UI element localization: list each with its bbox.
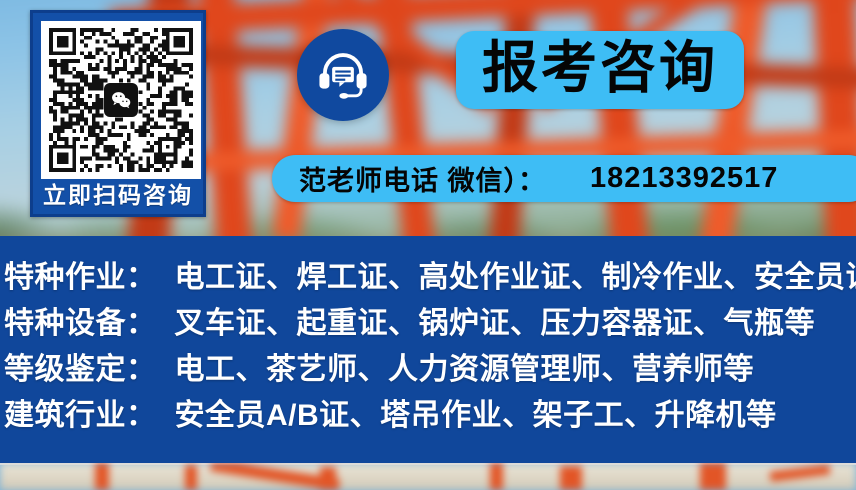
- ground-beam: [320, 467, 336, 490]
- list-item: 特种设备： 叉车证、起重证、锅炉证、压力容器证、气瓶等: [0, 298, 856, 344]
- category-label: 等级鉴定：: [4, 344, 157, 388]
- contact-phone-number[interactable]: 18213392517: [590, 162, 778, 195]
- promo-poster: 立即扫码咨询 报考咨询 范老师电话 微信）： 18213392517 特种作业：…: [0, 0, 856, 490]
- list-item: 特种作业： 电工证、焊工证、高处作业证、制冷作业、安全员证等: [0, 252, 856, 298]
- page-title: 报考咨询: [456, 31, 744, 109]
- category-items: 安全员A/B证、塔吊作业、架子工、升降机等: [175, 390, 777, 434]
- qr-code-panel[interactable]: 立即扫码咨询: [30, 10, 206, 217]
- contact-label: 范老师电话 微信）：: [299, 159, 546, 198]
- contact-pill[interactable]: 范老师电话 微信）： 18213392517: [272, 155, 856, 202]
- category-label: 特种作业：: [4, 252, 157, 296]
- category-label: 建筑行业：: [4, 390, 157, 434]
- qr-caption: 立即扫码咨询: [33, 180, 203, 210]
- category-items: 叉车证、起重证、锅炉证、压力容器证、气瓶等: [175, 298, 816, 342]
- headset-support-icon[interactable]: [297, 29, 389, 121]
- list-item: 建筑行业： 安全员A/B证、塔吊作业、架子工、升降机等: [0, 390, 856, 436]
- list-item: 等级鉴定： 电工、茶艺师、人力资源管理师、营养师等: [0, 344, 856, 390]
- ground-beam: [560, 466, 582, 490]
- category-items: 电工证、焊工证、高处作业证、制冷作业、安全员证等: [175, 252, 856, 296]
- wechat-icon: [104, 83, 138, 117]
- category-list: 特种作业： 电工证、焊工证、高处作业证、制冷作业、安全员证等 特种设备： 叉车证…: [0, 236, 856, 463]
- bottom-photo-strip: [0, 463, 856, 490]
- ground-beam: [185, 465, 197, 490]
- qr-code-surface: [41, 21, 201, 179]
- ground-beam: [490, 463, 503, 490]
- ground-beam: [770, 464, 831, 481]
- qr-code-image: [49, 28, 193, 172]
- ground-beam: [700, 463, 726, 490]
- category-items: 电工、茶艺师、人力资源管理师、营养师等: [175, 344, 755, 388]
- category-label: 特种设备：: [4, 298, 157, 342]
- ground-beam: [95, 463, 109, 490]
